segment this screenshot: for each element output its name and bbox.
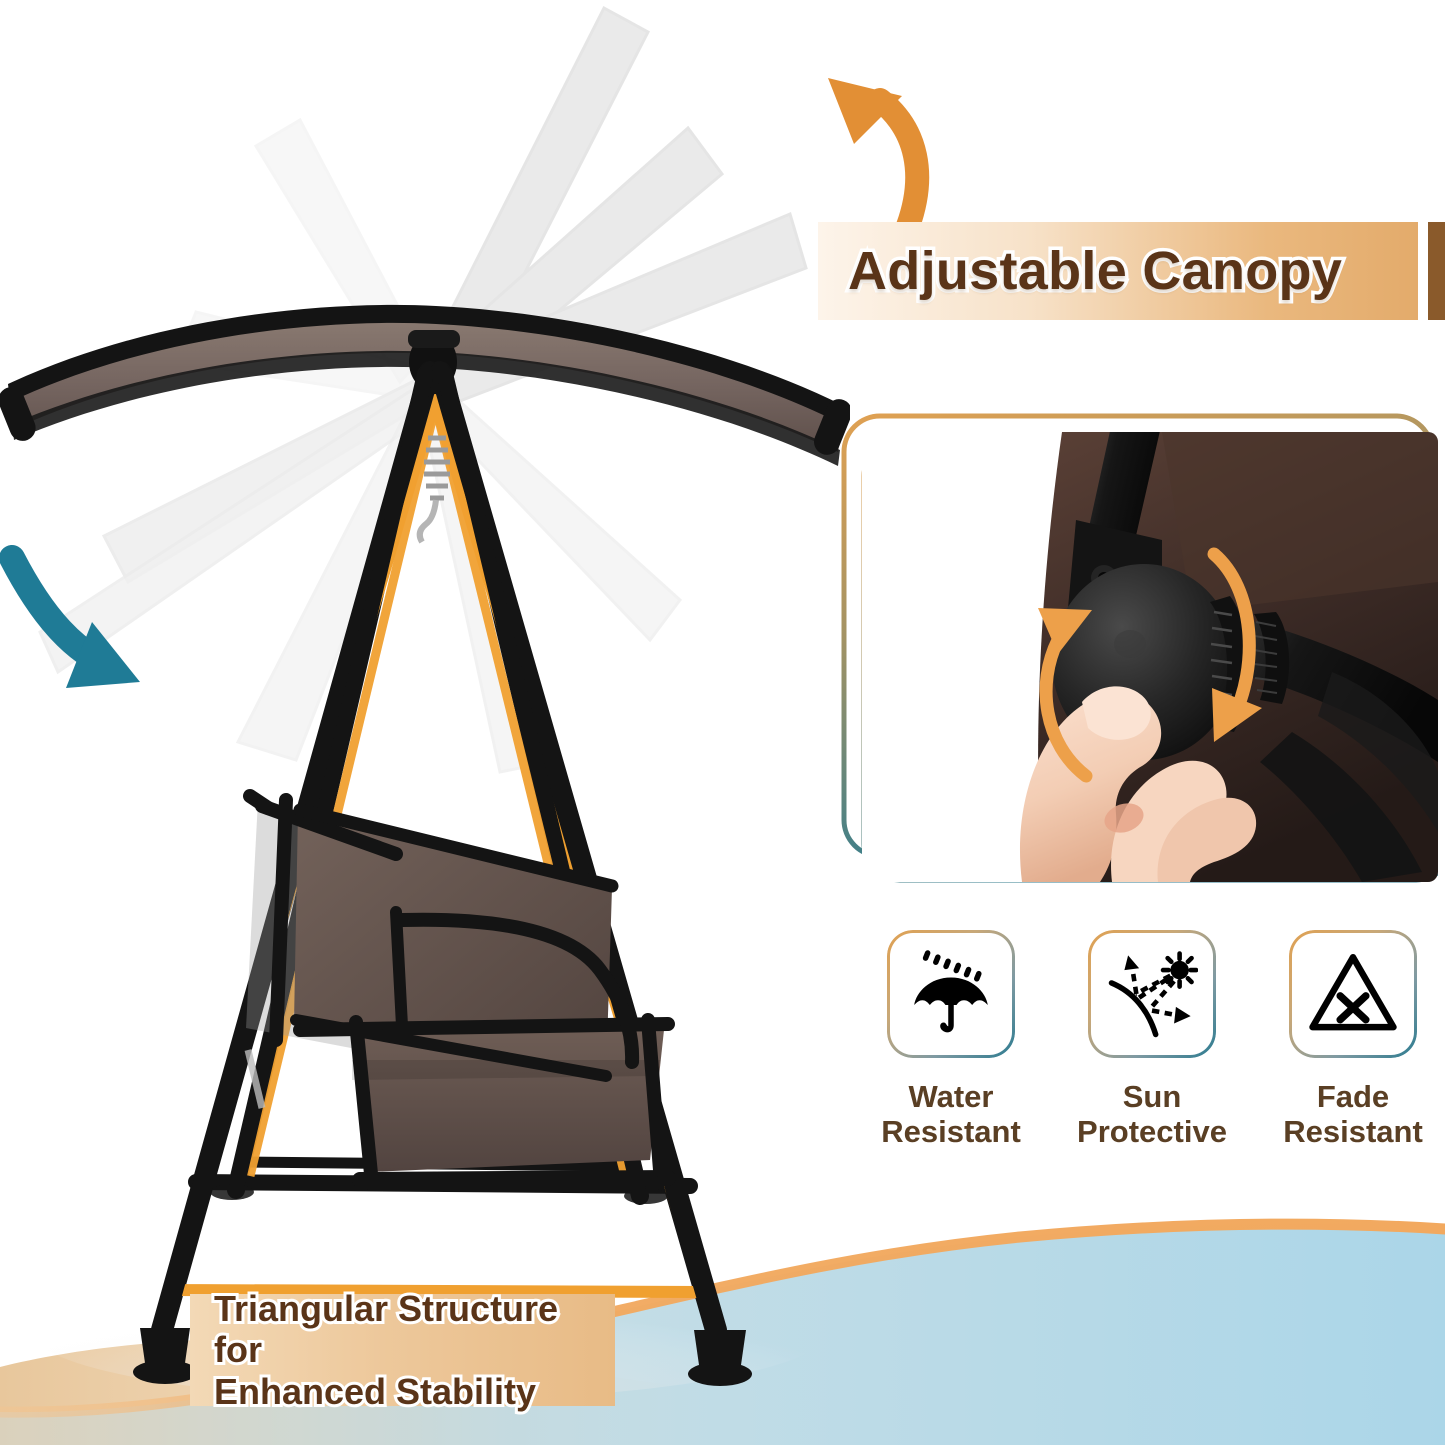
knob-detail-card [838,410,1438,895]
swing-chair-illustration [0,0,850,1445]
feature-label: Sun Protective [1077,1080,1227,1149]
infographic-canvas: Adjustable Canopy [0,0,1445,1445]
feature-label-line2: Resistant [1283,1115,1423,1150]
feature-label-line2: Protective [1077,1115,1227,1150]
feature-label: Fade Resistant [1283,1080,1423,1149]
feature-label: Water Resistant [881,1080,1021,1149]
stability-banner: Triangular Structure for Enhanced Stabil… [190,1294,615,1406]
feature-label-line1: Sun [1077,1080,1227,1115]
triangle-cross-icon [1289,930,1417,1058]
knob-detail-photo [862,432,1438,882]
stability-text-line2: Enhanced Stability [214,1371,615,1412]
feature-label-line2: Resistant [881,1115,1021,1150]
headline-banner: Adjustable Canopy [818,222,1418,320]
feature-water-resistant: Water Resistant [862,930,1040,1215]
swing-seat [246,796,668,1184]
sun-reflect-icon [1088,930,1216,1058]
canopy-tilt-up-arrow [806,56,986,236]
feature-label-line1: Water [881,1080,1021,1115]
feature-badges: Water Resistant [862,930,1442,1215]
feature-label-line1: Fade [1283,1080,1423,1115]
feature-sun-protective: Sun Protective [1063,930,1241,1215]
headline-text: Adjustable Canopy [848,240,1342,302]
headline-end-cap [1428,222,1445,320]
stability-text-line1: Triangular Structure for [214,1288,615,1371]
feature-fade-resistant: Fade Resistant [1264,930,1442,1215]
umbrella-rain-icon [887,930,1015,1058]
